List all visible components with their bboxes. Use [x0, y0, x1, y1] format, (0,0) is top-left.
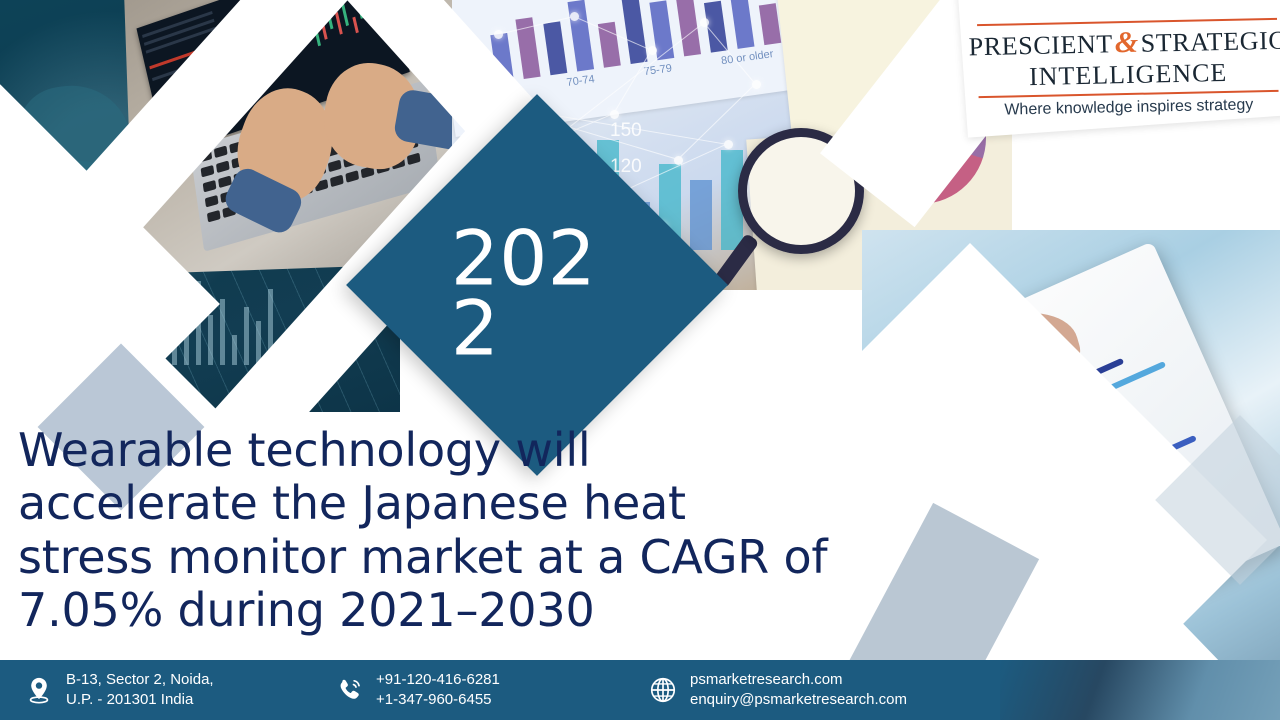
footer-address-line-2: U.P. - 201301 India [66, 690, 214, 710]
footer-phone-line-1: +91-120-416-6281 [376, 670, 500, 690]
footer-address-text: B-13, Sector 2, Noida, U.P. - 201301 Ind… [66, 670, 214, 711]
page-title: Wearable technology will accelerate the … [18, 424, 918, 637]
location-pin-icon [24, 675, 54, 705]
globe-icon [648, 675, 678, 705]
footer-phone-line-2: +1-347-960-6455 [376, 690, 500, 710]
poster-canvas: 65-6970-7475-7980 or older 150120906030 … [0, 0, 1280, 720]
headline-line-4: 7.05% during 2021–2030 [18, 584, 918, 637]
headline-line-2: accelerate the Japanese heat [18, 477, 918, 530]
headline-line-3: stress monitor market at a CAGR of [18, 531, 918, 584]
footer-address-line-1: B-13, Sector 2, Noida, [66, 670, 214, 690]
logo-word-strategic: STRATEGIC [1140, 26, 1280, 58]
footer-website: psmarketresearch.com [690, 670, 907, 690]
year-badge-label: 2022 [451, 224, 601, 364]
logo-word-prescient: PRESCIENT [968, 29, 1113, 61]
headline-line-1: Wearable technology will [18, 424, 918, 477]
logo-line-1: PRESCIENT&STRATEGIC [967, 23, 1280, 64]
footer-address-block: B-13, Sector 2, Noida, U.P. - 201301 Ind… [24, 670, 324, 711]
footer-phone-text: +91-120-416-6281 +1-347-960-6455 [376, 670, 500, 711]
footer-email: enquiry@psmarketresearch.com [690, 690, 907, 710]
phone-icon [334, 675, 364, 705]
footer-web-text: psmarketresearch.com enquiry@psmarketres… [690, 670, 907, 711]
footer-phone-block: +91-120-416-6281 +1-347-960-6455 [334, 670, 634, 711]
logo-ampersand: & [1112, 26, 1141, 60]
company-logo: PRESCIENT&STRATEGIC INTELLIGENCE Where k… [967, 15, 1280, 121]
footer-photo-overlay [1000, 660, 1280, 720]
